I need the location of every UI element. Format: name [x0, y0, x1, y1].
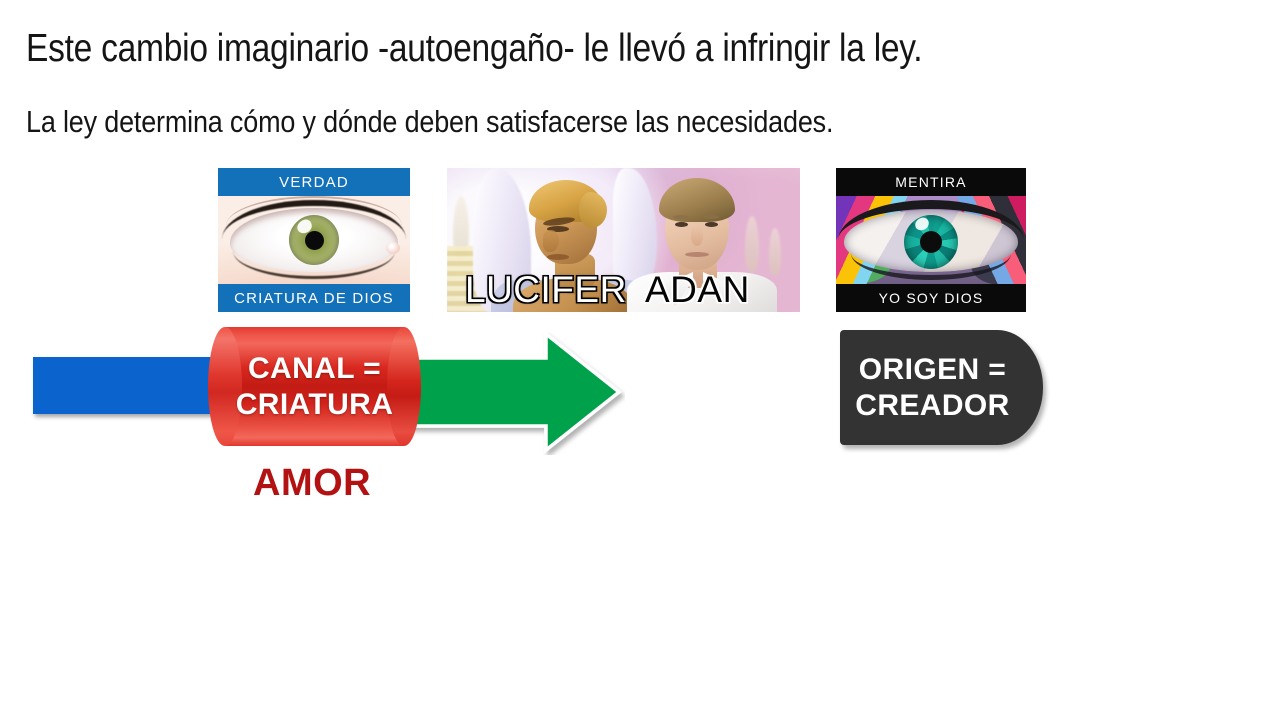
red-cylinder-shape: CANAL = CRIATURA	[208, 327, 421, 446]
adan-eye-right	[705, 222, 718, 227]
cylinder-text-line2: CRIATURA	[236, 388, 394, 422]
amor-caption: AMOR	[253, 462, 371, 504]
cylinder-text-line1: CANAL =	[248, 352, 381, 386]
green-arrow-icon	[400, 330, 625, 455]
background-angel-figure	[769, 228, 781, 276]
lucifer-mouth	[547, 254, 569, 260]
card-mentira-footer: YO SOY DIOS	[836, 284, 1026, 312]
plaque-text-line2: CREADOR	[855, 389, 1009, 423]
lucifer-adan-image: LUCIFER ADAN	[447, 168, 800, 312]
plaque-text: ORIGEN = CREADOR	[840, 330, 1043, 445]
adan-mouth	[685, 252, 709, 257]
card-mentira: MENTIRA YO SOY DIOS	[836, 168, 1026, 312]
lowpoly-eye-image	[836, 196, 1026, 284]
cylinder-text: CANAL = CRIATURA	[208, 327, 421, 446]
dark-plaque-shape: ORIGEN = CREADOR	[840, 330, 1043, 445]
lucifer-label: LUCIFER	[465, 270, 627, 310]
green-eye-image	[218, 196, 410, 284]
plaque-text-line1: ORIGEN =	[859, 353, 1006, 387]
slide-canvas: Este cambio imaginario -autoengaño- le l…	[0, 0, 1280, 720]
card-verdad-header: VERDAD	[218, 168, 410, 196]
adan-eyebrow-left	[673, 215, 689, 219]
adan-nose	[691, 226, 703, 246]
card-verdad-footer: CRIATURA DE DIOS	[218, 284, 410, 312]
blue-bar-shape	[33, 357, 218, 414]
adan-label: ADAN	[645, 270, 750, 310]
card-mentira-header: MENTIRA	[836, 168, 1026, 196]
adan-eye-left	[675, 222, 688, 227]
page-subtitle: La ley determina cómo y dónde deben sati…	[26, 104, 1070, 140]
card-verdad: VERDAD CRIATURA DE DIOS	[218, 168, 410, 312]
green-arrow-body	[406, 334, 619, 450]
page-title: Este cambio imaginario -autoengaño- le l…	[26, 27, 1058, 71]
adan-eyebrow-right	[703, 215, 719, 219]
